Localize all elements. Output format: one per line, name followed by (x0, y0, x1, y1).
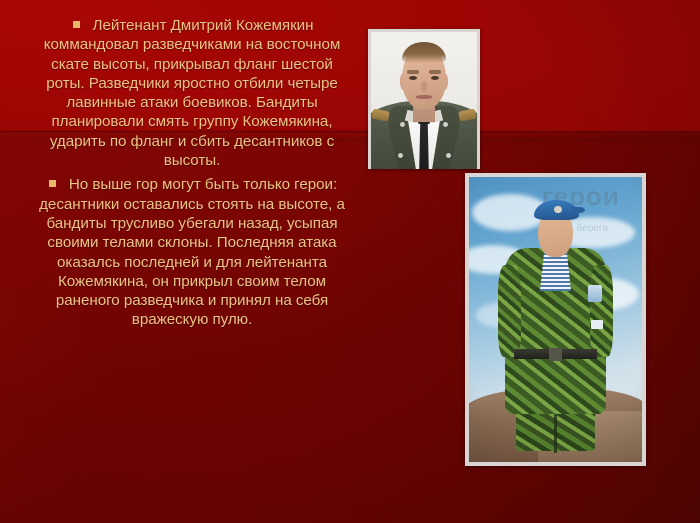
portrait-mouth (416, 95, 433, 99)
paratrooper-photo-inner: герои Вдоль берега (469, 177, 642, 462)
soldier-portrait-photo (368, 29, 480, 169)
slide-text-column: Лейтенант Дмитрий Кожемякин коммандовал … (36, 16, 348, 333)
bullet-paragraph-2-text: Но выше гор могут быть только герои: дес… (39, 176, 345, 328)
soldier-portrait-photo-inner (371, 32, 477, 169)
portrait-uniform-button (398, 153, 403, 158)
portrait-uniform-button (446, 153, 451, 158)
portrait-uniform-button (443, 122, 448, 127)
portrait-necktie (419, 117, 429, 169)
portrait-nose (421, 81, 427, 92)
square-bullet-icon (49, 180, 56, 187)
bullet-paragraph-1-text: Лейтенант Дмитрий Кожемякин коммандовал … (44, 17, 340, 169)
presentation-slide: Лейтенант Дмитрий Кожемякин коммандовал … (0, 0, 700, 523)
paratrooper-photo: герои Вдоль берега (465, 173, 646, 466)
paratrooper-photo-shading (469, 177, 642, 462)
portrait-uniform-button (400, 122, 405, 127)
portrait-eyebrow-right (429, 70, 441, 73)
bullet-paragraph-1: Лейтенант Дмитрий Кожемякин коммандовал … (36, 16, 348, 170)
portrait-eyebrow-left (407, 70, 419, 73)
square-bullet-icon (73, 21, 80, 28)
bullet-paragraph-2: Но выше гор могут быть только герои: дес… (36, 175, 348, 329)
portrait-eye-left (409, 76, 417, 80)
